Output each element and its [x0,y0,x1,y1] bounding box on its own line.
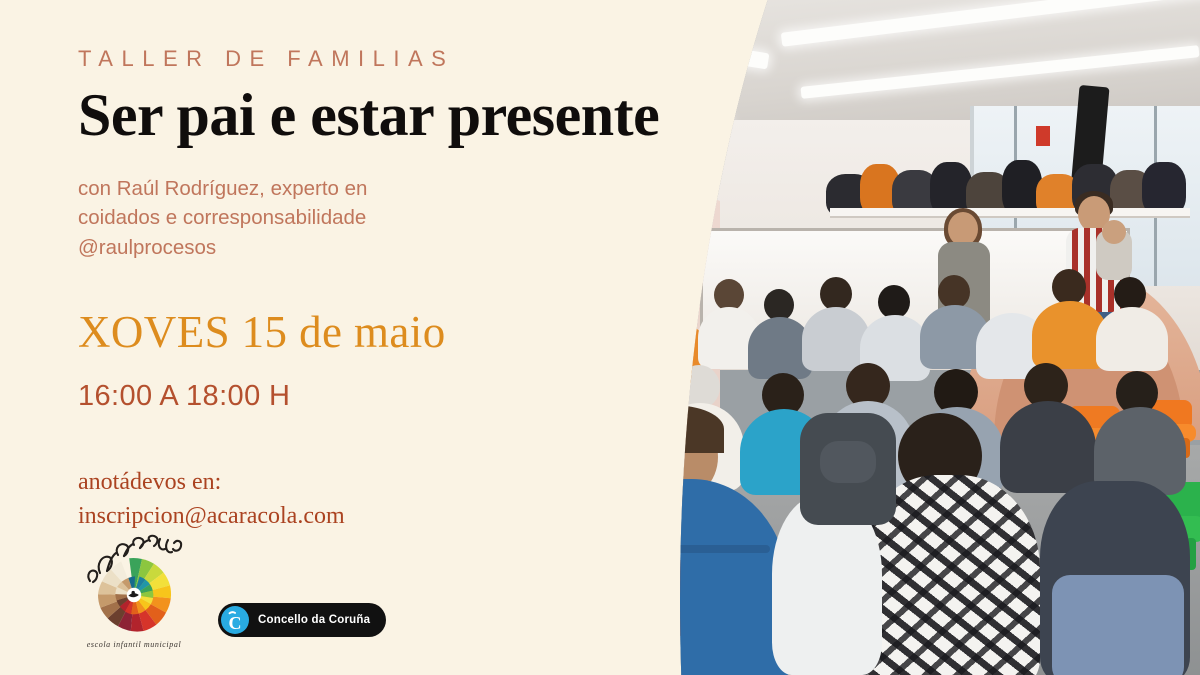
concello-da-coruna-logo: C Concello da Coruña [218,603,386,637]
speaker-handle: @raulprocesos [78,233,700,263]
page-title: Ser pai e estar presente [78,84,700,148]
signup-block: anotádevos en: inscripcion@acaracola.com [78,465,700,533]
concello-label: Concello da Coruña [258,614,370,626]
coat-shelf-items [826,158,1198,214]
svg-text:C: C [229,613,242,633]
logo-row: escola infantil municipal C Concello da … [78,535,386,647]
shelf [830,208,1190,218]
speaker-line-1: con Raúl Rodríguez, experto en [78,174,700,204]
caracola-shell-icon [94,555,174,635]
a-caracola-logo: escola infantil municipal [78,535,190,647]
speaker-info: con Raúl Rodríguez, experto en coidados … [78,174,700,263]
event-time: 16:00 A 18:00 H [78,380,700,413]
caracola-tagline: escola infantil municipal [78,640,190,649]
exit-sign [1036,126,1050,146]
eyebrow-label: TALLER DE FAMILIAS [78,46,700,72]
signup-email[interactable]: inscripcion@acaracola.com [78,499,700,533]
signup-label: anotádevos en: [78,465,700,499]
concello-c-mark-icon: C [221,606,249,634]
speaker-line-2: coidados e corresponsabilidade [78,203,700,233]
poster-root: TALLER DE FAMILIAS Ser pai e estar prese… [0,0,1200,675]
event-date: XOVES 15 de maio [78,306,700,358]
